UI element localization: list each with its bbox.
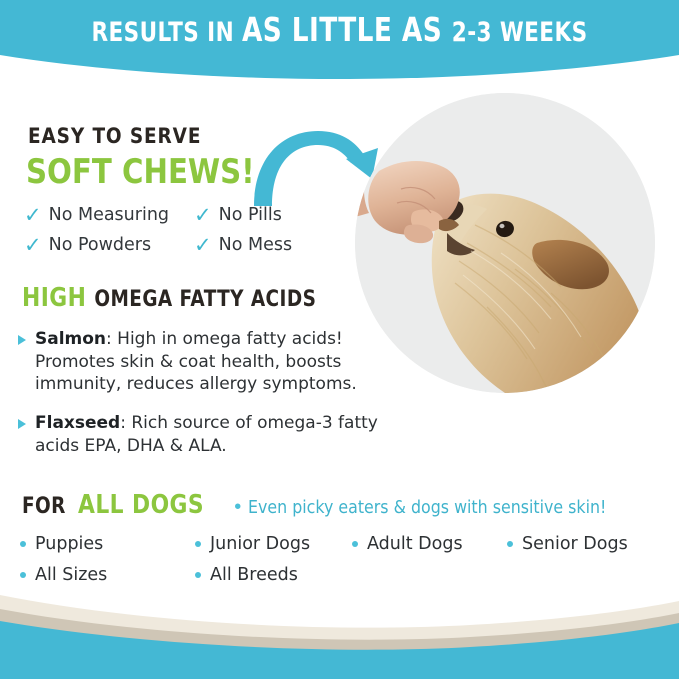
soft-chews-headline: SOFT CHEWS! [26, 152, 255, 192]
check-icon: ✓ [194, 205, 212, 226]
omega-heading-rest: OMEGA FATTY ACIDS [94, 287, 316, 312]
bullet-term: Flaxseed [35, 413, 120, 433]
header-title-part1: RESULTS IN [91, 17, 242, 48]
omega-heading-highlight: HIGH [22, 283, 86, 313]
dot-bullet-icon [20, 541, 26, 547]
list-item-adult-dogs: Adult Dogs [352, 534, 507, 554]
header-title: RESULTS IN AS LITTLE AS 2-3 WEEKS [68, 12, 611, 48]
check-icon: ✓ [24, 205, 42, 226]
list-item-puppies: Puppies [20, 534, 195, 554]
picky-eaters-tagline: Even picky eaters & dogs with sensitive … [248, 497, 606, 518]
for-word: FOR [22, 494, 66, 519]
dot-bullet-icon [352, 541, 358, 547]
dog-types-row: Puppies Junior Dogs Adult Dogs Senior Do… [20, 528, 665, 559]
list-item-label: Adult Dogs [367, 534, 463, 554]
triangle-bullet-icon [18, 335, 26, 345]
product-infographic: RESULTS IN AS LITTLE AS 2-3 WEEKS EASY T… [0, 0, 679, 679]
omega-heading: HIGH OMEGA FATTY ACIDS [22, 283, 316, 313]
list-item-label: Puppies [35, 534, 103, 554]
check-item-no-measuring: ✓ No Measuring [24, 205, 194, 226]
list-item-label: Senior Dogs [522, 534, 628, 554]
no-hassle-check-list: ✓ No Measuring ✓ No Pills ✓ No Powders ✓… [24, 200, 334, 260]
check-item-no-powders: ✓ No Powders [24, 235, 194, 256]
check-label: No Mess [219, 235, 292, 255]
footer-banner: Raw Paws® PET FOOD [0, 575, 679, 679]
check-row: ✓ No Powders ✓ No Mess [24, 230, 334, 260]
bullet-text: Salmon: High in omega fatty acids! Promo… [35, 328, 403, 396]
check-item-no-pills: ✓ No Pills [194, 205, 282, 226]
omega-bullet-flaxseed: Flaxseed: Rich source of omega-3 fatty a… [18, 412, 403, 457]
bullet-text: Flaxseed: Rich source of omega-3 fatty a… [35, 412, 403, 457]
all-dogs-highlight: ALL DOGS [78, 490, 204, 520]
for-all-dogs-heading: FOR ALL DOGS • Even picky eaters & dogs … [22, 490, 656, 520]
check-icon: ✓ [194, 235, 212, 256]
list-item-label: Junior Dogs [210, 534, 310, 554]
check-label: No Pills [219, 205, 282, 225]
list-item-junior-dogs: Junior Dogs [195, 534, 352, 554]
easy-to-serve-eyebrow: EASY TO SERVE [28, 124, 201, 148]
check-label: No Powders [49, 235, 152, 255]
check-label: No Measuring [49, 205, 169, 225]
separator-dot-icon: • [234, 497, 241, 517]
bullet-term: Salmon [35, 329, 106, 349]
header-title-part2: AS LITTLE AS [242, 10, 452, 49]
list-item-senior-dogs: Senior Dogs [507, 534, 628, 554]
header-banner: RESULTS IN AS LITTLE AS 2-3 WEEKS [0, 0, 679, 80]
check-icon: ✓ [24, 235, 42, 256]
header-title-part3: 2-3 WEEKS [452, 17, 588, 48]
check-item-no-mess: ✓ No Mess [194, 235, 292, 256]
omega-bullet-salmon: Salmon: High in omega fatty acids! Promo… [18, 328, 403, 396]
dot-bullet-icon [195, 541, 201, 547]
dot-bullet-icon [507, 541, 513, 547]
triangle-bullet-icon [18, 419, 26, 429]
